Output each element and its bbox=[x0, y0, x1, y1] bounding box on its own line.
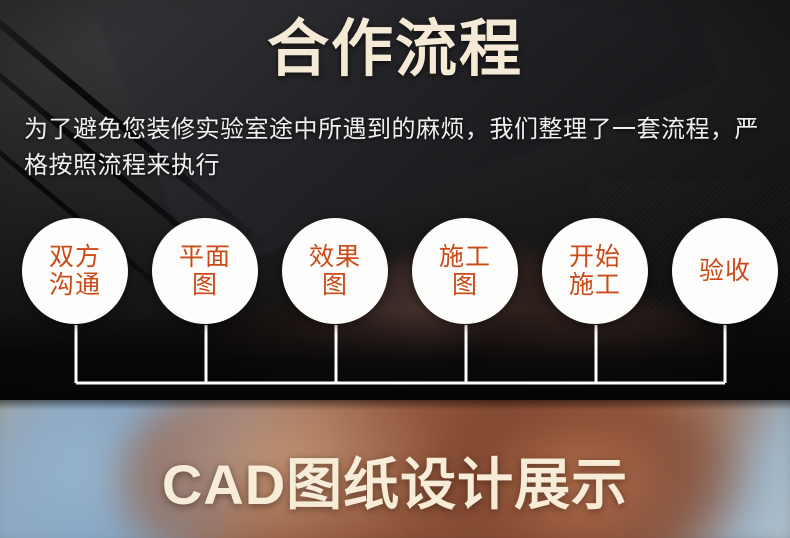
process-step-label: 施工 图 bbox=[439, 243, 491, 299]
promo-page: 合作流程 为了避免您装修实验室途中所遇到的麻烦，我们整理了一套流程，严格按照流程… bbox=[0, 0, 790, 538]
process-step-label: 平面 图 bbox=[179, 243, 231, 299]
process-step-3[interactable]: 效果 图 bbox=[282, 218, 388, 324]
process-step-label: 效果 图 bbox=[309, 243, 361, 299]
process-step-1[interactable]: 双方 沟通 bbox=[22, 218, 128, 324]
page-title: 合作流程 bbox=[0, 12, 790, 88]
process-step-4[interactable]: 施工 图 bbox=[412, 218, 518, 324]
bottom-section: CAD图纸设计展示 bbox=[0, 400, 790, 538]
process-step-6[interactable]: 验收 bbox=[672, 218, 778, 324]
process-step-2[interactable]: 平面 图 bbox=[152, 218, 258, 324]
process-step-5[interactable]: 开始 施工 bbox=[542, 218, 648, 324]
process-step-row: 双方 沟通 平面 图 效果 图 施工 图 开始 施工 验收 bbox=[22, 218, 768, 324]
page-subtitle: 为了避免您装修实验室途中所遇到的麻烦，我们整理了一套流程，严格按照流程来执行 bbox=[24, 112, 766, 185]
process-step-label: 双方 沟通 bbox=[49, 243, 101, 299]
bottom-section-title: CAD图纸设计展示 bbox=[0, 400, 790, 538]
process-step-label: 验收 bbox=[699, 257, 751, 285]
process-step-label: 开始 施工 bbox=[569, 243, 621, 299]
